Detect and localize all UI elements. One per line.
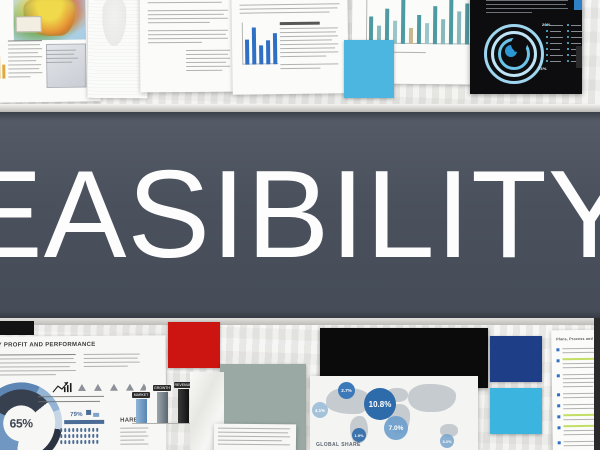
bar [433, 6, 437, 44]
blue-bar-chart-document [231, 0, 348, 95]
percent-swatch-a [86, 410, 91, 415]
black-strip-left [0, 321, 34, 335]
grid-sketch-shape [102, 0, 127, 46]
bar [409, 28, 413, 44]
bar-tag: GROWTH [153, 385, 171, 391]
bulleted-report-document: Plans, Process and Advance Key [551, 330, 600, 450]
screenshot-canvas: 26% 48% 73% EASIBILITY [0, 0, 600, 450]
bar [417, 15, 421, 44]
text-document-bottom-mid [214, 424, 296, 450]
percent-bar [64, 420, 104, 424]
map-bubble: 4.1% [312, 402, 328, 418]
map-bubble: 10.8% [364, 388, 396, 420]
bar [245, 40, 249, 65]
right-dark-edge [594, 318, 600, 450]
cyan-color-swatch [490, 388, 542, 434]
bar [259, 45, 263, 64]
map-legend-box [16, 16, 42, 32]
cyan-sticky-note [344, 40, 394, 98]
poster-side-tab-bottom [576, 46, 582, 68]
bar [425, 23, 429, 44]
bar [457, 11, 461, 44]
africa-map-sheet [0, 0, 101, 103]
teal-bar-group [366, 0, 471, 45]
map-bubble: 1.9% [352, 428, 366, 442]
wall-ledge-bottom [0, 318, 600, 325]
map-bubble: 7.0% [384, 416, 408, 440]
bar [157, 392, 168, 423]
bar [178, 389, 189, 423]
bullet-marker [558, 441, 561, 444]
bar [385, 9, 389, 44]
ring-value-center: 48% [514, 48, 523, 53]
continent-asia [408, 384, 456, 412]
dark-ring-poster: 26% 48% 73% [470, 0, 582, 94]
bar [441, 19, 445, 44]
bar [252, 27, 257, 64]
bullet-marker [557, 393, 560, 396]
banner-title: EASIBILITY [0, 153, 600, 277]
ring-value-bottom: 73% [538, 66, 547, 71]
bar [266, 40, 270, 64]
blue-bar-group [242, 22, 279, 64]
bar [273, 33, 277, 64]
bullet-marker [556, 348, 559, 351]
bullet-marker [557, 374, 560, 377]
growth-arrow-icon [52, 380, 74, 394]
profit-donut-hole: 65% [3, 405, 39, 441]
global-share-title: GLOBAL SHARE [316, 442, 361, 448]
banner-bottom-shadow [0, 311, 600, 318]
secondary-percent-label: 79% [70, 412, 83, 418]
banner-top-shadow [0, 112, 600, 121]
bar [449, 0, 453, 44]
bullet-marker [557, 415, 560, 418]
left-edge-mini-bars [0, 45, 10, 79]
map-bubble: 2.7% [338, 382, 355, 399]
bullet-marker [557, 426, 560, 429]
tagged-bar-chart: MARKET GROWTH REVENUE [132, 382, 190, 426]
blue-doc-heading [280, 22, 320, 26]
bullet-marker [557, 404, 560, 407]
profit-donut-value: 65% [10, 416, 33, 430]
bar [136, 399, 147, 423]
percent-swatch-b [93, 413, 99, 417]
global-share-map-card: 10.8% 7.0% 2.7% 4.1% 1.9% 3.2% GLOBAL SH… [310, 376, 478, 450]
feasibility-banner: EASIBILITY [0, 112, 600, 318]
poster-side-tab-top [574, 0, 582, 10]
navy-color-swatch [490, 336, 542, 382]
bar-tag: MARKET [132, 392, 150, 398]
bar [465, 4, 469, 45]
red-color-swatch [168, 322, 220, 368]
profit-heading: Y PROFIT AND PERFORMANCE [0, 342, 96, 349]
bullet-marker [557, 359, 560, 362]
bar [401, 0, 405, 44]
text-document-center [140, 0, 239, 92]
map-bubble: 3.2% [440, 434, 454, 448]
